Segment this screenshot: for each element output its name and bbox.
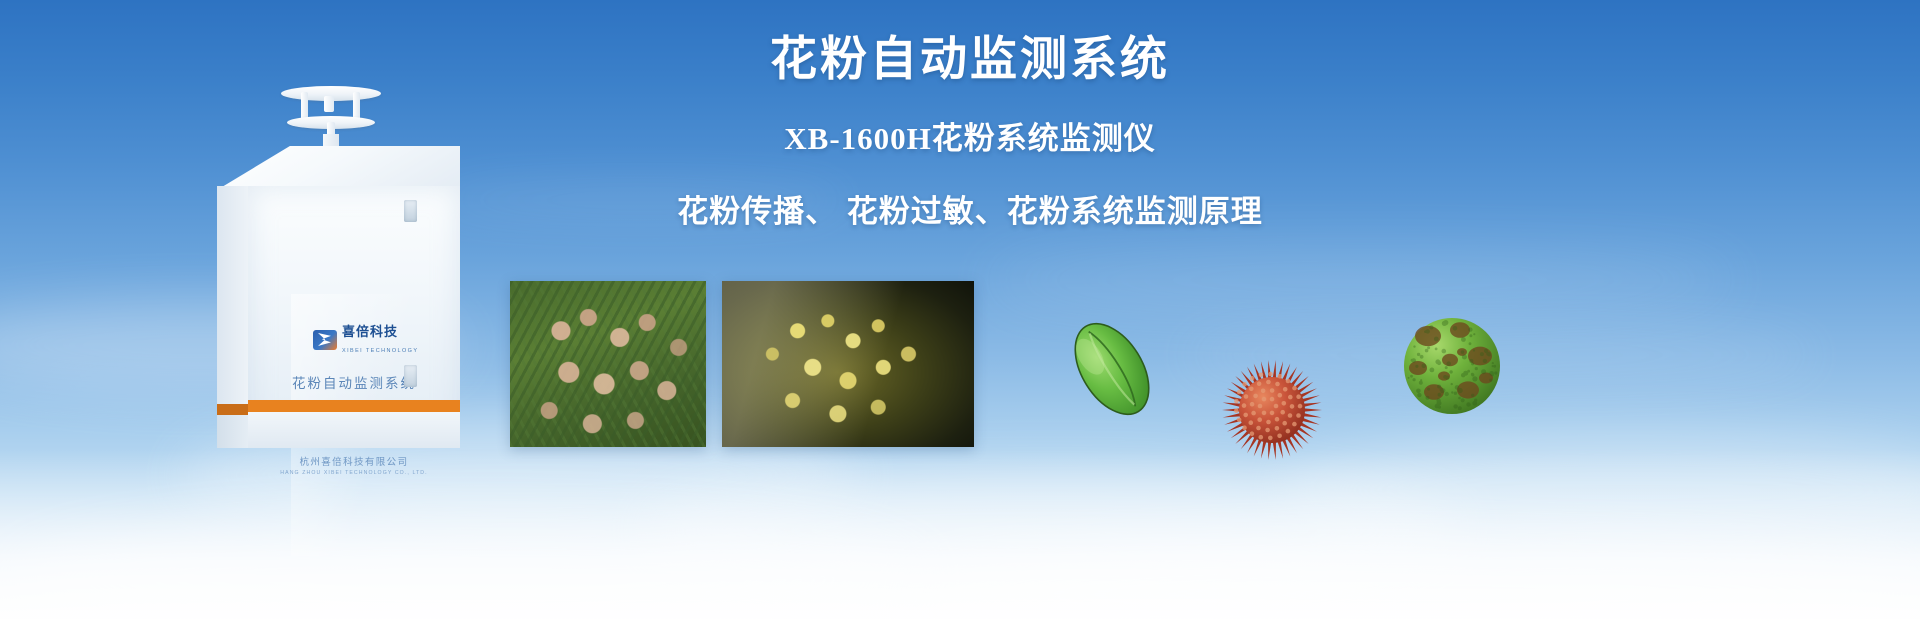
red-spiky-pollen-grain bbox=[1218, 356, 1326, 464]
device-base-stripe-side bbox=[217, 404, 250, 415]
cypress-catkins-photo bbox=[510, 281, 706, 447]
yellow-catkin-photo bbox=[722, 281, 974, 447]
brand-name-en: XIBEI TECHNOLOGY bbox=[342, 348, 418, 354]
sensor-probe bbox=[324, 96, 334, 112]
device-company-en: HANG ZHOU XIBEI TECHNOLOGY CO., LTD. bbox=[248, 470, 460, 476]
brand-name-cn: 喜倍科技 bbox=[342, 324, 398, 339]
brand-logo: 喜倍科技 XIBEI TECHNOLOGY bbox=[313, 324, 418, 356]
device-base-stripe bbox=[248, 400, 460, 412]
banner-root: 花粉自动监测系统 XB-1600H花粉系统监测仪 花粉传播、 花粉过敏、花粉系统… bbox=[0, 0, 1920, 619]
page-title: 花粉自动监测系统 bbox=[560, 30, 1380, 87]
green-pollen-grain bbox=[1062, 313, 1162, 425]
device-latch-icon bbox=[404, 365, 417, 387]
device-product-name: 花粉自动监测系统 bbox=[248, 372, 460, 392]
device-base-side bbox=[217, 415, 250, 448]
device-latch-icon bbox=[404, 200, 417, 222]
pollen-monitor-device: 喜倍科技 XIBEI TECHNOLOGY 花粉自动监测系统 XB-1600H … bbox=[205, 78, 460, 438]
device-company-cn: 杭州喜倍科技有限公司 bbox=[248, 454, 460, 468]
device-base bbox=[248, 412, 460, 448]
xibei-logo-icon bbox=[313, 330, 337, 350]
device-top-panel bbox=[217, 146, 460, 190]
spotted-pollen-grain bbox=[1398, 312, 1506, 420]
headline-block: 花粉自动监测系统 XB-1600H花粉系统监测仪 花粉传播、 花粉过敏、花粉系统… bbox=[560, 30, 1380, 231]
weather-sensor-head bbox=[277, 78, 385, 148]
model-subtitle: XB-1600H花粉系统监测仪 bbox=[560, 113, 1380, 158]
topics-subtitle: 花粉传播、 花粉过敏、花粉系统监测原理 bbox=[560, 186, 1380, 231]
cloud-wisp bbox=[980, 250, 1740, 310]
